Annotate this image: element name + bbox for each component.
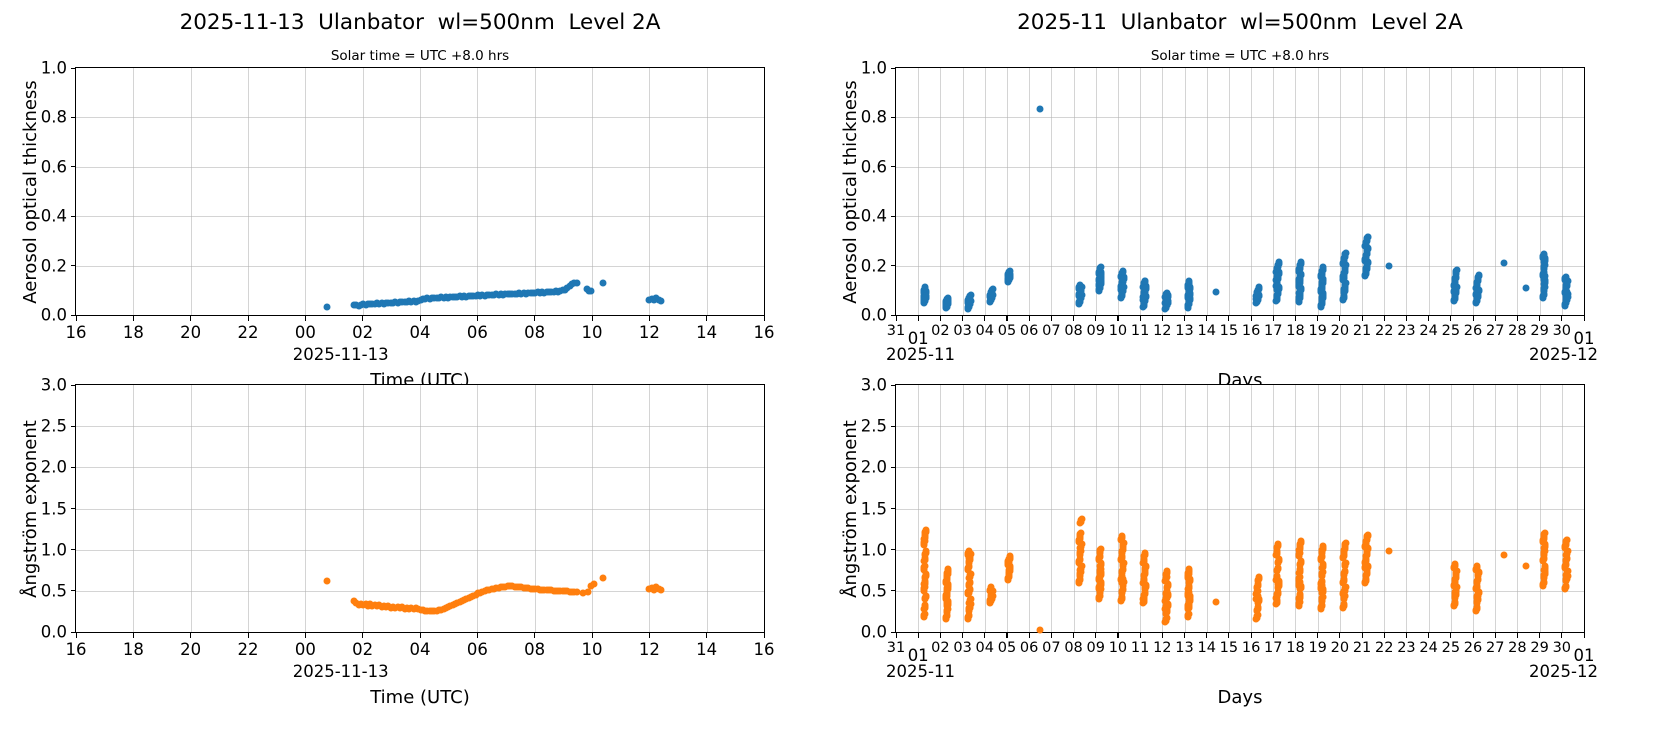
data-point (943, 590, 950, 597)
x-axis-tick (1339, 315, 1340, 321)
x-axis-tick-label: 22 (1375, 640, 1393, 656)
data-point (1119, 282, 1126, 289)
data-point (1212, 599, 1219, 606)
x-axis-tick (1029, 632, 1030, 638)
x-axis-tick-label: 15 (1220, 640, 1238, 656)
x-axis-tick (764, 315, 765, 321)
y-axis-tick-label: 0.2 (41, 256, 67, 275)
data-point (1254, 592, 1261, 599)
monthly-angstrom-axes: Ångström exponent Days 2025-11 2025-12 0… (895, 384, 1585, 633)
gridline-vertical (1207, 385, 1208, 632)
data-point (965, 548, 972, 555)
gridline-vertical (1029, 385, 1030, 632)
gridline-vertical (477, 68, 478, 315)
x-axis-tick (1140, 315, 1141, 321)
data-point (923, 548, 930, 555)
gridline-horizontal (896, 216, 1584, 217)
x-axis-tick (1428, 632, 1429, 638)
monthly-aot-axes: Aerosol optical thickness Days 2025-11 2… (895, 67, 1585, 316)
x-axis-tick-label: 08 (1064, 323, 1082, 339)
data-point (1541, 529, 1548, 536)
gridline-vertical (1517, 385, 1518, 632)
x-axis-tick (248, 632, 249, 638)
x-axis-tick-label: 11 (1131, 640, 1149, 656)
x-axis-tick (420, 315, 421, 321)
x-axis-tick (1206, 632, 1207, 638)
gridline-vertical (535, 385, 536, 632)
data-point (1275, 282, 1282, 289)
x-axis-tick (477, 632, 478, 638)
data-point (1319, 594, 1326, 601)
y-axis-tick-label: 0.0 (41, 306, 67, 325)
y-axis-tick (71, 549, 77, 550)
x-axis-tick-label: 12 (639, 640, 660, 659)
x-axis-tick (534, 315, 535, 321)
daily-angstrom-axes: Ångström exponent Time (UTC) 2025-11-13 … (75, 384, 765, 633)
data-point (1563, 273, 1570, 280)
data-point (1341, 284, 1348, 291)
x-axis-tick-label: 18 (123, 640, 144, 659)
x-axis-tick (962, 315, 963, 321)
data-point (1540, 250, 1547, 257)
gridline-vertical (1074, 68, 1075, 315)
data-point (1274, 273, 1281, 280)
y-axis-tick (891, 549, 897, 550)
x-axis-tick (1517, 315, 1518, 321)
x-axis-tick-label: 14 (696, 323, 717, 342)
x-axis-tick (1384, 632, 1385, 638)
gridline-vertical (191, 385, 192, 632)
data-point (1119, 267, 1126, 274)
x-axis-tick (896, 632, 897, 638)
data-point (1212, 289, 1219, 296)
x-axis-tick (649, 632, 650, 638)
x-axis-tick-label: 08 (524, 640, 545, 659)
x-axis-tick-label: 04 (976, 640, 994, 656)
x-axis-tick (1517, 632, 1518, 638)
data-point (600, 575, 607, 582)
x-axis-tick-label: 20 (1331, 640, 1349, 656)
gridline-vertical (1406, 68, 1407, 315)
x-axis-tick (1561, 315, 1562, 321)
data-point (1142, 549, 1149, 556)
data-point (1275, 541, 1282, 548)
data-point (323, 577, 330, 584)
data-point (922, 284, 929, 291)
y-axis-tick (891, 68, 897, 69)
gridline-vertical (1384, 68, 1385, 315)
y-axis-tick-label: 0.5 (41, 581, 67, 600)
data-point (1320, 543, 1327, 550)
data-point (1563, 536, 1570, 543)
gridline-vertical (1517, 68, 1518, 315)
data-point (1005, 556, 1012, 563)
gridline-horizontal (896, 550, 1584, 551)
x-axis-tick (1117, 315, 1118, 321)
x-axis-tick (1473, 632, 1474, 638)
x-axis-tick-label: 18 (1286, 323, 1304, 339)
x-axis-tick-label: 06 (467, 323, 488, 342)
data-point (573, 280, 580, 287)
y-axis-tick (71, 216, 77, 217)
y-axis-tick (71, 508, 77, 509)
y-axis-tick (891, 426, 897, 427)
data-point (1256, 574, 1263, 581)
x-axis-tick (918, 315, 919, 321)
x-axis-tick (420, 632, 421, 638)
x-axis-tick (1362, 315, 1363, 321)
gridline-vertical (420, 385, 421, 632)
gridline-horizontal (896, 266, 1584, 267)
data-point (1342, 249, 1349, 256)
x-axis-tick-label: 02 (931, 640, 949, 656)
x-axis-tick-label: 09 (1087, 640, 1105, 656)
x-axis-tick-label: 05 (998, 323, 1016, 339)
data-point (1274, 590, 1281, 597)
x-axis-tick-label: 18 (1286, 640, 1304, 656)
data-point (1453, 266, 1460, 273)
y-axis-tick-label: 3.0 (861, 376, 887, 395)
x-axis-tick (190, 315, 191, 321)
x-axis-tick-label: 06 (467, 640, 488, 659)
x-axis-tick (1251, 315, 1252, 321)
x-axis-tick-label: 16 (1242, 323, 1260, 339)
x-axis-tick-label: 21 (1353, 323, 1371, 339)
x-axis-tick-label: 21 (1353, 640, 1371, 656)
x-axis-tick (984, 632, 985, 638)
x-axis-tick (1029, 315, 1030, 321)
x-axis-tick-label: 09 (1087, 323, 1105, 339)
data-point (1187, 592, 1194, 599)
monthly-angstrom-xlabel: Days (1218, 687, 1263, 708)
data-point (1318, 284, 1325, 291)
x-axis-tick-label: 02 (352, 640, 373, 659)
gridline-vertical (940, 68, 941, 315)
gridline-vertical (1074, 385, 1075, 632)
x-axis-tick (1073, 632, 1074, 638)
data-point (1098, 569, 1105, 576)
data-point (657, 297, 664, 304)
x-axis-tick-label: 00 (295, 323, 316, 342)
x-axis-tick (1117, 632, 1118, 638)
x-axis-tick-label: 14 (1197, 323, 1215, 339)
data-point (1319, 294, 1326, 301)
data-point (1363, 561, 1370, 568)
data-point (1186, 566, 1193, 573)
gridline-vertical (985, 385, 986, 632)
x-axis-tick (1006, 315, 1007, 321)
x-axis-tick-label: 08 (1064, 640, 1082, 656)
y-axis-tick (71, 467, 77, 468)
data-point (1165, 590, 1172, 597)
x-axis-tick-label: 04 (410, 323, 431, 342)
x-axis-tick-label: 17 (1264, 640, 1282, 656)
y-axis-tick-label: 1.5 (41, 499, 67, 518)
daily-angstrom-x-offset-label: 2025-11-13 (293, 662, 389, 681)
data-point (1320, 264, 1327, 271)
x-axis-tick (305, 632, 306, 638)
gridline-vertical (1051, 68, 1052, 315)
y-axis-tick (71, 265, 77, 266)
data-point (1297, 592, 1304, 599)
y-axis-tick-label: 0.4 (41, 207, 67, 226)
data-point (1164, 567, 1171, 574)
y-axis-tick-label: 0.6 (41, 157, 67, 176)
y-axis-tick (891, 216, 897, 217)
x-axis-tick-label: 20 (1331, 323, 1349, 339)
x-axis-tick (1184, 315, 1185, 321)
gridline-vertical (1495, 385, 1496, 632)
gridline-vertical (707, 68, 708, 315)
y-axis-tick-label: 1.0 (861, 540, 887, 559)
data-point (1187, 290, 1194, 297)
x-axis-tick-label: 02 (931, 323, 949, 339)
y-axis-tick-label: 0.0 (861, 623, 887, 642)
data-point (1452, 587, 1459, 594)
gridline-vertical (1362, 385, 1363, 632)
x-axis-tick (1428, 315, 1429, 321)
x-axis-tick-label: 14 (696, 640, 717, 659)
daily-aot-x-offset-label: 2025-11-13 (293, 345, 389, 364)
x-axis-tick-label: 04 (410, 640, 431, 659)
gridline-vertical (1007, 385, 1008, 632)
y-axis-tick (891, 590, 897, 591)
x-axis-tick (1051, 632, 1052, 638)
data-point (1119, 533, 1126, 540)
data-point (1163, 602, 1170, 609)
x-axis-tick-label: 12 (1153, 323, 1171, 339)
x-axis-tick-label: 10 (1109, 323, 1127, 339)
x-axis-tick-label: 01 (908, 329, 929, 348)
data-point (967, 600, 974, 607)
data-point (1475, 271, 1482, 278)
gridline-vertical (1540, 385, 1541, 632)
gridline-vertical (1562, 385, 1563, 632)
data-point (1564, 572, 1571, 579)
figure-canvas: 2025-11-13 Ulanbator wl=500nm Level 2A S… (0, 0, 1654, 737)
x-axis-tick-label: 06 (1020, 640, 1038, 656)
x-axis-tick (940, 632, 941, 638)
x-axis-tick (76, 632, 77, 638)
x-axis-tick (1273, 632, 1274, 638)
daily-angstrom-ylabel: Ångström exponent (20, 420, 41, 598)
x-axis-tick (649, 315, 650, 321)
data-point (600, 279, 607, 286)
x-axis-tick-label: 10 (582, 323, 603, 342)
x-axis-tick (1339, 632, 1340, 638)
x-axis-tick-label: 16 (754, 640, 775, 659)
y-axis-tick (71, 117, 77, 118)
gridline-vertical (1406, 385, 1407, 632)
y-axis-tick-label: 1.5 (861, 499, 887, 518)
gridline-vertical (305, 68, 306, 315)
y-axis-tick-label: 2.0 (41, 458, 67, 477)
data-point (1318, 581, 1325, 588)
x-axis-tick-label: 19 (1308, 323, 1326, 339)
x-axis-tick (1162, 315, 1163, 321)
x-axis-tick (592, 632, 593, 638)
x-axis-tick (1095, 632, 1096, 638)
x-axis-tick-label: 19 (1308, 640, 1326, 656)
x-axis-tick (477, 315, 478, 321)
gridline-horizontal (896, 167, 1584, 168)
gridline-vertical (1429, 68, 1430, 315)
gridline-vertical (963, 385, 964, 632)
monthly-panel-title: 2025-11 Ulanbator wl=500nm Level 2A (880, 10, 1600, 35)
gridline-horizontal (896, 117, 1584, 118)
data-point (1077, 529, 1084, 536)
daily-aot-axes: Aerosol optical thickness Time (UTC) 202… (75, 67, 765, 316)
x-axis-tick-label: 12 (639, 323, 660, 342)
y-axis-tick-label: 0.8 (861, 108, 887, 127)
x-axis-tick (190, 632, 191, 638)
x-axis-tick-label: 14 (1197, 640, 1215, 656)
x-axis-tick-label: 05 (998, 640, 1016, 656)
y-axis-tick (891, 467, 897, 468)
daily-angstrom-xlabel: Time (UTC) (370, 687, 470, 708)
y-axis-tick-label: 0.4 (861, 207, 887, 226)
y-axis-tick-label: 0.2 (861, 256, 887, 275)
data-point (1141, 592, 1148, 599)
data-point (1341, 270, 1348, 277)
data-point (966, 297, 973, 304)
x-axis-tick-label: 17 (1264, 323, 1282, 339)
x-axis-tick (1228, 632, 1229, 638)
data-point (588, 288, 595, 295)
y-axis-tick (71, 426, 77, 427)
gridline-vertical (1207, 68, 1208, 315)
data-point (1296, 579, 1303, 586)
x-axis-tick-label: 06 (1020, 323, 1038, 339)
x-axis-tick (1584, 632, 1585, 638)
data-point (966, 585, 973, 592)
x-axis-tick-label: 16 (1242, 640, 1260, 656)
x-axis-tick-label: 26 (1464, 323, 1482, 339)
gridline-vertical (985, 68, 986, 315)
data-point (1276, 259, 1283, 266)
data-point (1037, 626, 1044, 633)
gridline-vertical (963, 68, 964, 315)
x-axis-tick (1317, 632, 1318, 638)
data-point (944, 299, 951, 306)
x-axis-tick-label: 25 (1442, 640, 1460, 656)
gridline-vertical (1251, 68, 1252, 315)
data-point (1141, 292, 1148, 299)
x-axis-tick (1473, 315, 1474, 321)
gridline-vertical (1384, 385, 1385, 632)
data-point (1165, 297, 1172, 304)
gridline-vertical (592, 385, 593, 632)
x-axis-tick-label: 08 (524, 323, 545, 342)
gridline-vertical (248, 68, 249, 315)
data-point (1097, 546, 1104, 553)
y-axis-tick-label: 2.5 (861, 417, 887, 436)
gridline-vertical (592, 68, 593, 315)
data-point (1005, 273, 1012, 280)
data-point (1541, 273, 1548, 280)
x-axis-tick (1095, 315, 1096, 321)
x-axis-tick-label: 22 (238, 640, 259, 659)
y-axis-tick (71, 68, 77, 69)
y-axis-tick (891, 166, 897, 167)
data-point (1564, 294, 1571, 301)
data-point (1523, 563, 1530, 570)
data-point (1385, 548, 1392, 555)
x-axis-tick (1495, 315, 1496, 321)
data-point (1542, 567, 1549, 574)
x-axis-tick (1162, 632, 1163, 638)
data-point (923, 526, 930, 533)
x-axis-tick (1450, 632, 1451, 638)
data-point (1185, 600, 1192, 607)
data-point (657, 587, 664, 594)
data-point (1452, 561, 1459, 568)
y-axis-tick-label: 0.6 (861, 157, 887, 176)
x-axis-tick-label: 20 (180, 640, 201, 659)
x-axis-tick-label: 18 (123, 323, 144, 342)
monthly-aot-ylabel: Aerosol optical thickness (840, 80, 861, 303)
x-axis-tick-label: 31 (887, 640, 905, 656)
data-point (1142, 277, 1149, 284)
x-axis-tick (984, 315, 985, 321)
y-axis-tick-label: 0.0 (861, 306, 887, 325)
data-point (1096, 581, 1103, 588)
x-axis-tick (76, 315, 77, 321)
y-axis-tick-label: 3.0 (41, 376, 67, 395)
daily-panel-title: 2025-11-13 Ulanbator wl=500nm Level 2A (60, 10, 780, 35)
data-point (988, 292, 995, 299)
daily-aot-ylabel: Aerosol optical thickness (20, 80, 41, 303)
x-axis-tick (362, 632, 363, 638)
x-axis-tick (1073, 315, 1074, 321)
x-axis-tick (1184, 632, 1185, 638)
x-axis-tick (305, 315, 306, 321)
data-point (1078, 515, 1085, 522)
x-axis-tick (1273, 315, 1274, 321)
x-axis-tick-label: 29 (1530, 640, 1548, 656)
x-axis-tick-label: 16 (66, 323, 87, 342)
data-point (1475, 590, 1482, 597)
x-axis-tick (362, 315, 363, 321)
data-point (1474, 562, 1481, 569)
gridline-vertical (1029, 68, 1030, 315)
data-point (1363, 253, 1370, 260)
x-axis-tick-label: 01 (908, 646, 929, 665)
gridline-horizontal (896, 467, 1584, 468)
x-axis-tick (706, 315, 707, 321)
data-point (1364, 261, 1371, 268)
x-axis-tick-label: 07 (1042, 640, 1060, 656)
x-axis-tick-label: 12 (1153, 640, 1171, 656)
data-point (1254, 292, 1261, 299)
data-point (1298, 259, 1305, 266)
x-axis-tick (534, 632, 535, 638)
data-point (921, 295, 928, 302)
x-axis-tick-label: 16 (754, 323, 775, 342)
x-axis-tick (1295, 632, 1296, 638)
data-point (922, 602, 929, 609)
x-axis-tick (1495, 632, 1496, 638)
data-point (1296, 275, 1303, 282)
data-point (1342, 539, 1349, 546)
data-point (1142, 285, 1149, 292)
x-axis-tick-label: 03 (953, 640, 971, 656)
x-axis-tick-label: 23 (1397, 640, 1415, 656)
x-axis-tick (1450, 315, 1451, 321)
daily-panel-subtitle: Solar time = UTC +8.0 hrs (60, 48, 780, 64)
x-axis-tick-label: 23 (1397, 323, 1415, 339)
x-axis-tick (1362, 632, 1363, 638)
